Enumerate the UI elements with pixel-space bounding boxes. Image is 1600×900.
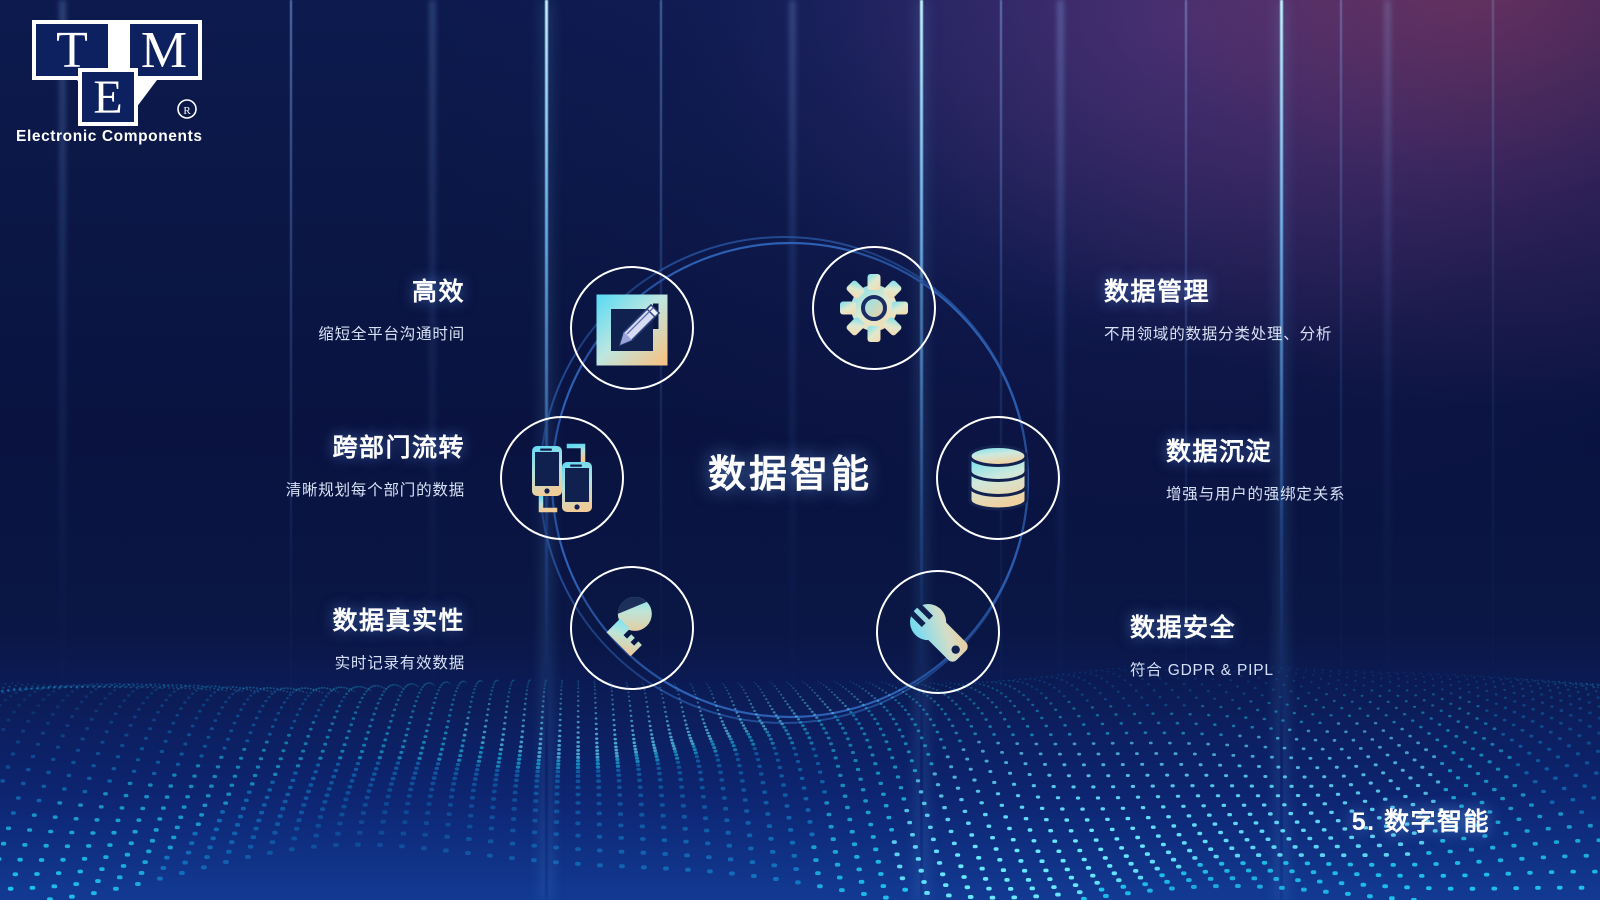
node-edit[interactable] (570, 266, 694, 390)
feature-label-data-accumulation: 数据沉淀 增强与用户的强绑定关系 (1166, 432, 1345, 504)
gear-icon (836, 270, 912, 346)
slide-footer-label: 5. 数字智能 (1352, 802, 1490, 838)
svg-text:E: E (93, 71, 122, 124)
feature-title: 数据安全 (1130, 608, 1274, 644)
feature-desc: 不用领域的数据分类处理、分析 (1104, 322, 1332, 344)
tme-logo: T M E R Electronic Components (14, 12, 214, 146)
slide-canvas: T M E R Electronic Components (0, 0, 1600, 900)
feature-title: 数据管理 (1104, 272, 1332, 308)
edit-pencil-icon (593, 289, 671, 367)
feature-desc: 缩短全平台沟通时间 (318, 322, 465, 344)
feature-desc: 增强与用户的强绑定关系 (1166, 482, 1345, 504)
feature-desc: 清晰规划每个部门的数据 (286, 478, 465, 500)
feature-label-data-management: 数据管理 不用领域的数据分类处理、分析 (1104, 272, 1332, 344)
feature-title: 跨部门流转 (286, 428, 465, 464)
feature-label-cross-department: 跨部门流转 清晰规划每个部门的数据 (286, 428, 465, 500)
svg-text:R: R (183, 105, 191, 117)
svg-text:M: M (141, 22, 187, 79)
feature-title: 数据沉淀 (1166, 432, 1345, 468)
center-title: 数据智能 (480, 443, 1100, 498)
feature-title: 高效 (318, 272, 465, 308)
feature-title: 数据真实性 (332, 601, 465, 637)
tme-logo-tagline: Electronic Components (16, 128, 214, 146)
particle-wave-graphic (0, 640, 1600, 900)
tme-logo-mark: T M E R (14, 12, 204, 122)
node-settings[interactable] (812, 246, 936, 370)
feature-label-efficiency: 高效 缩短全平台沟通时间 (318, 272, 465, 344)
